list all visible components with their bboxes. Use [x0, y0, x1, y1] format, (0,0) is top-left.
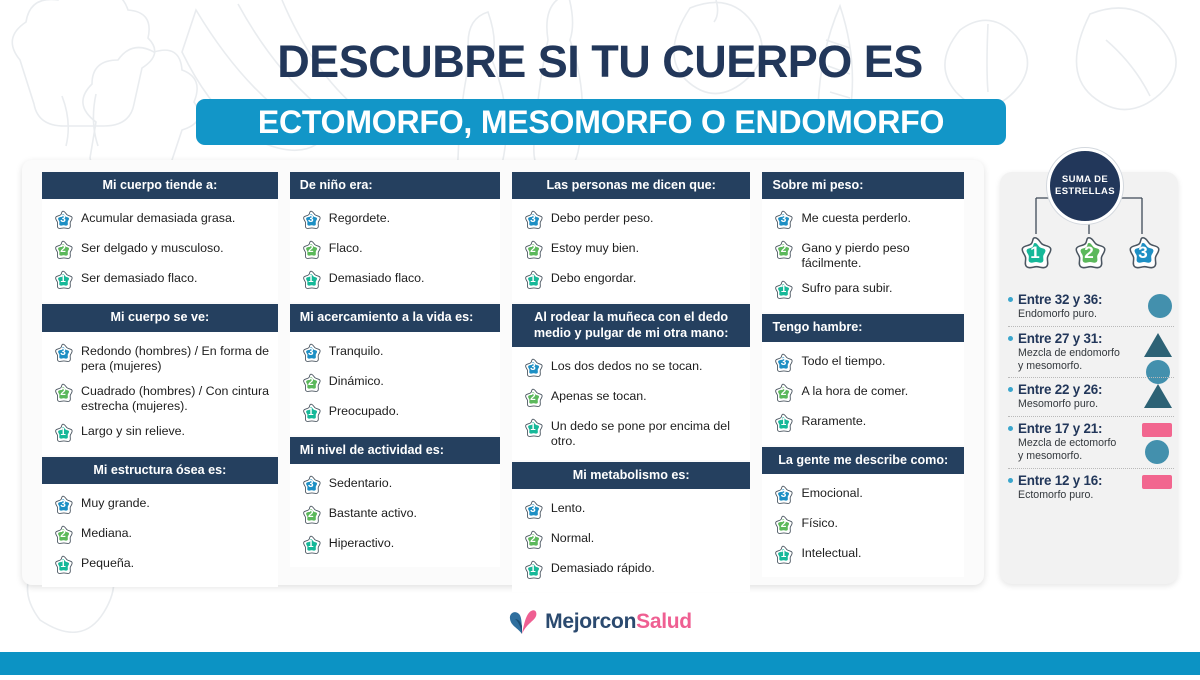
star-number: 1 [522, 269, 544, 291]
star-badge-1: 1 [52, 422, 74, 444]
answer-options: 3Redondo (hombres) / En forma de pera (m… [42, 332, 278, 455]
answer-option[interactable]: 2Gano y pierdo peso fácilmente. [772, 239, 956, 271]
question-block: Tengo hambre:3Todo el tiempo.2A la hora … [762, 314, 964, 444]
answer-options: 3Debo perder peso.2Estoy muy bien.1Debo … [512, 199, 751, 302]
answer-option[interactable]: 1Pequeña. [52, 554, 270, 576]
quiz-column-3: Las personas me dicen que:3Debo perder p… [506, 172, 757, 573]
answer-label: Lento. [551, 499, 585, 516]
answer-option[interactable]: 1Demasiado flaco. [300, 269, 492, 291]
star-number: 1 [300, 269, 322, 291]
star-number: 1 [300, 402, 322, 424]
star-number: 1 [1016, 234, 1054, 272]
butterfly-logo-icon [508, 608, 538, 636]
star-badge-3: 3 [772, 209, 794, 231]
answer-option[interactable]: 1Demasiado rápido. [522, 559, 743, 581]
answer-label: Bastante activo. [329, 504, 417, 521]
answer-label: Los dos dedos no se tocan. [551, 357, 703, 374]
question-header: Al rodear la muñeca con el dedo medio y … [512, 304, 751, 347]
answer-label: Apenas se tocan. [551, 387, 647, 404]
score-range-label: Entre 17 y 21: [1018, 421, 1102, 436]
answer-label: Mediana. [81, 524, 132, 541]
score-description: Endomorfo puro. [1008, 308, 1120, 321]
star-number: 3 [772, 352, 794, 374]
answer-label: Intelectual. [801, 544, 861, 561]
answer-option[interactable]: 1Raramente. [772, 412, 956, 434]
question-header: Mi nivel de actividad es: [290, 437, 500, 464]
question-header: Tengo hambre: [762, 314, 964, 341]
rect-shape-icon [1142, 475, 1172, 489]
star-badge-2: 2 [300, 239, 322, 261]
star-number: 2 [52, 382, 74, 404]
answer-label: Debo perder peso. [551, 209, 654, 226]
body-type-shapes [1144, 384, 1172, 408]
star-badge-1: 1 [772, 412, 794, 434]
score-results-list: Entre 32 y 36:Endomorfo puro.Entre 27 y … [1008, 288, 1174, 506]
logo-wordmark: MejorconSalud [545, 610, 692, 634]
star-badge-2: 2 [772, 382, 794, 404]
answer-option[interactable]: 1Hiperactivo. [300, 534, 492, 556]
question-header: Mi estructura ósea es: [42, 457, 278, 484]
star-number: 2 [522, 387, 544, 409]
star-badge-1: 1 [300, 402, 322, 424]
answer-label: Largo y sin relieve. [81, 422, 185, 439]
answer-label: Normal. [551, 529, 594, 546]
body-type-shapes [1142, 423, 1172, 464]
question-block: Las personas me dicen que:3Debo perder p… [512, 172, 751, 302]
question-block: Sobre mi peso:3Me cuesta perderlo.2Gano … [762, 172, 964, 312]
answer-label: Debo engordar. [551, 269, 636, 286]
triangle-shape-icon [1144, 333, 1172, 357]
star-badge-1: 1 [52, 269, 74, 291]
bullet-icon [1008, 478, 1013, 483]
star-number: 1 [52, 554, 74, 576]
star-badge-2: 2 [522, 239, 544, 261]
score-description: Mesomorfo puro. [1008, 398, 1120, 411]
suma-line-2: ESTRELLAS [1055, 186, 1115, 198]
answer-option[interactable]: 2Normal. [522, 529, 743, 551]
star-badge-2: 2 [300, 372, 322, 394]
score-range-label: Entre 32 y 36: [1018, 292, 1102, 307]
logo-text-primary: Mejorcon [545, 610, 636, 633]
answer-label: Tranquilo. [329, 342, 384, 359]
star-number: 3 [52, 494, 74, 516]
answer-label: Físico. [801, 514, 838, 531]
answer-option[interactable]: 1Debo engordar. [522, 269, 743, 291]
question-block: Mi nivel de actividad es:3Sedentario.2Ba… [290, 437, 500, 567]
quiz-column-1: Mi cuerpo tiende a:3Acumular demasiada g… [36, 172, 284, 573]
answer-option[interactable]: 3Regordete. [300, 209, 492, 231]
answer-label: Demasiado flaco. [329, 269, 425, 286]
body-type-shapes [1148, 294, 1172, 318]
answer-option[interactable]: 3Debo perder peso. [522, 209, 743, 231]
question-header: Mi cuerpo se ve: [42, 304, 278, 331]
star-badge-3: 3 [1124, 234, 1162, 272]
answer-label: Pequeña. [81, 554, 134, 571]
star-number: 1 [300, 534, 322, 556]
answer-options: 3Tranquilo.2Dinámico.1Preocupado. [290, 332, 500, 435]
answer-label: Cuadrado (hombres) / Con cintura estrech… [81, 382, 270, 414]
answer-option[interactable]: 2Cuadrado (hombres) / Con cintura estrec… [52, 382, 270, 414]
answer-option[interactable]: 2Estoy muy bien. [522, 239, 743, 261]
star-badge-1: 1 [522, 417, 544, 439]
answer-option[interactable]: 1Ser demasiado flaco. [52, 269, 270, 291]
question-block: Mi cuerpo se ve:3Redondo (hombres) / En … [42, 304, 278, 454]
star-badge-3: 3 [522, 209, 544, 231]
star-number: 1 [522, 559, 544, 581]
question-block: Mi metabolismo es:3Lento.2Normal.1Demasi… [512, 462, 751, 592]
answer-label: Raramente. [801, 412, 866, 429]
infographic-header: DESCUBRE SI TU CUERPO ES ECTOMORFO, MESO… [0, 0, 1200, 150]
answer-label: Me cuesta perderlo. [801, 209, 911, 226]
bullet-icon [1008, 336, 1013, 341]
score-result-row: Entre 27 y 31:Mezcla de endomorfo y meso… [1008, 326, 1174, 377]
answer-option[interactable]: 3Muy grande. [52, 494, 270, 516]
star-number: 3 [522, 499, 544, 521]
answer-label: Demasiado rápido. [551, 559, 655, 576]
star-badge-3: 3 [522, 357, 544, 379]
answer-option[interactable]: 1Un dedo se pone por encima del otro. [522, 417, 743, 449]
quiz-columns: Mi cuerpo tiende a:3Acumular demasiada g… [22, 160, 984, 585]
answer-option[interactable]: 3Tranquilo. [300, 342, 492, 364]
rect-shape-icon [1142, 423, 1172, 437]
star-badge-1: 1 [1016, 234, 1054, 272]
answer-label: Flaco. [329, 239, 363, 256]
star-number: 2 [1070, 234, 1108, 272]
suma-line-1: SUMA DE [1062, 174, 1108, 186]
question-header: La gente me describe como: [762, 447, 964, 474]
answer-option[interactable]: 2Apenas se tocan. [522, 387, 743, 409]
subtitle-banner: ECTOMORFO, MESOMORFO O ENDOMORFO [196, 99, 1006, 145]
question-block: La gente me describe como:3Emocional.2Fí… [762, 447, 964, 577]
star-badge-2: 2 [300, 504, 322, 526]
answer-label: Sedentario. [329, 474, 392, 491]
star-number: 2 [772, 514, 794, 536]
star-number: 3 [1124, 234, 1162, 272]
star-badge-2: 2 [52, 239, 74, 261]
answer-option[interactable]: 1Largo y sin relieve. [52, 422, 270, 444]
answer-option[interactable]: 2A la hora de comer. [772, 382, 956, 404]
star-badge-2: 2 [522, 529, 544, 551]
bullet-icon [1008, 297, 1013, 302]
star-number: 2 [300, 239, 322, 261]
body-type-shapes [1144, 333, 1172, 384]
answer-options: 3Me cuesta perderlo.2Gano y pierdo peso … [762, 199, 964, 312]
answer-options: 3Todo el tiempo.2A la hora de comer.1Rar… [762, 342, 964, 445]
answer-option[interactable]: 3Los dos dedos no se tocan. [522, 357, 743, 379]
answer-label: Ser demasiado flaco. [81, 269, 197, 286]
star-badge-3: 3 [300, 342, 322, 364]
answer-option[interactable]: 3Me cuesta perderlo. [772, 209, 956, 231]
body-type-shapes [1142, 475, 1172, 489]
star-number: 3 [52, 209, 74, 231]
star-badge-3: 3 [772, 352, 794, 374]
question-header: Las personas me dicen que: [512, 172, 751, 199]
star-badge-3: 3 [772, 484, 794, 506]
answer-options: 3Muy grande.2Mediana.1Pequeña. [42, 484, 278, 587]
star-number: 3 [772, 209, 794, 231]
answer-label: Todo el tiempo. [801, 352, 885, 369]
score-result-row: Entre 22 y 26:Mesomorfo puro. [1008, 377, 1174, 416]
score-range-label: Entre 22 y 26: [1018, 382, 1102, 397]
answer-option[interactable]: 2Físico. [772, 514, 956, 536]
star-badge-1: 1 [522, 269, 544, 291]
star-number: 3 [300, 342, 322, 364]
answer-option[interactable]: 2Mediana. [52, 524, 270, 546]
question-block: De niño era:3Regordete.2Flaco.1Demasiado… [290, 172, 500, 302]
star-badge-1: 1 [772, 544, 794, 566]
quiz-column-4: Sobre mi peso:3Me cuesta perderlo.2Gano … [756, 172, 970, 573]
answer-label: Muy grande. [81, 494, 150, 511]
star-badge-3: 3 [300, 474, 322, 496]
star-number: 2 [522, 529, 544, 551]
answer-options: 3Sedentario.2Bastante activo.1Hiperactiv… [290, 464, 500, 567]
bullet-icon [1008, 387, 1013, 392]
score-result-row: Entre 32 y 36:Endomorfo puro. [1008, 288, 1174, 326]
suma-de-estrellas-badge: SUMA DE ESTRELLAS [1047, 148, 1123, 224]
answer-options: 3Lento.2Normal.1Demasiado rápido. [512, 489, 751, 592]
answer-label: Gano y pierdo peso fácilmente. [801, 239, 956, 271]
star-badge-3: 3 [52, 494, 74, 516]
star-badge-3: 3 [522, 499, 544, 521]
star-number: 1 [522, 417, 544, 439]
answer-options: 3Regordete.2Flaco.1Demasiado flaco. [290, 199, 500, 302]
answer-label: Emocional. [801, 484, 862, 501]
legend-star-row: 123 [1008, 232, 1170, 274]
star-badge-2: 2 [52, 524, 74, 546]
question-block: Mi acercamiento a la vida es:3Tranquilo.… [290, 304, 500, 434]
star-number: 2 [300, 504, 322, 526]
star-number: 3 [300, 209, 322, 231]
star-badge-3: 3 [52, 342, 74, 364]
answer-option[interactable]: 2Dinámico. [300, 372, 492, 394]
star-badge-2: 2 [772, 239, 794, 261]
answer-label: Dinámico. [329, 372, 384, 389]
star-badge-2: 2 [52, 382, 74, 404]
star-badge-1: 1 [772, 279, 794, 301]
star-number: 3 [522, 209, 544, 231]
answer-option[interactable]: 3Lento. [522, 499, 743, 521]
star-number: 2 [300, 372, 322, 394]
answer-label: Ser delgado y musculoso. [81, 239, 224, 256]
question-header: Mi acercamiento a la vida es: [290, 304, 500, 331]
star-number: 3 [300, 474, 322, 496]
star-badge-2: 2 [772, 514, 794, 536]
question-header: Mi cuerpo tiende a: [42, 172, 278, 199]
answer-label: Sufro para subir. [801, 279, 892, 296]
score-description: Ectomorfo puro. [1008, 489, 1120, 502]
bottom-accent-bar [0, 652, 1200, 675]
answer-option[interactable]: 3Emocional. [772, 484, 956, 506]
answer-options: 3Emocional.2Físico.1Intelectual. [762, 474, 964, 577]
answer-option[interactable]: 2Ser delgado y musculoso. [52, 239, 270, 261]
score-description: Mezcla de endomorfo y mesomorfo. [1008, 347, 1120, 372]
star-number: 1 [772, 412, 794, 434]
star-number: 3 [52, 342, 74, 364]
answer-option[interactable]: 3Sedentario. [300, 474, 492, 496]
question-header: Sobre mi peso: [762, 172, 964, 199]
star-number: 1 [772, 544, 794, 566]
question-block: Al rodear la muñeca con el dedo medio y … [512, 304, 751, 460]
circle-shape-icon [1148, 294, 1172, 318]
answer-label: Un dedo se pone por encima del otro. [551, 417, 743, 449]
answer-option[interactable]: 2Bastante activo. [300, 504, 492, 526]
score-range-label: Entre 27 y 31: [1018, 331, 1102, 346]
star-badge-1: 1 [300, 269, 322, 291]
star-badge-1: 1 [522, 559, 544, 581]
star-number: 2 [52, 524, 74, 546]
star-number: 2 [52, 239, 74, 261]
star-badge-1: 1 [52, 554, 74, 576]
site-logo[interactable]: MejorconSalud [0, 608, 1200, 636]
question-header: De niño era: [290, 172, 500, 199]
circle-shape-icon [1145, 440, 1169, 464]
answer-label: Redondo (hombres) / En forma de pera (mu… [81, 342, 270, 374]
score-result-row: Entre 17 y 21:Mezcla de ectomorfo y meso… [1008, 416, 1174, 467]
star-badge-2: 2 [522, 387, 544, 409]
answer-label: A la hora de comer. [801, 382, 908, 399]
score-result-row: Entre 12 y 16:Ectomorfo puro. [1008, 468, 1174, 507]
star-number: 3 [522, 357, 544, 379]
score-description: Mezcla de ectomorfo y mesomorfo. [1008, 437, 1120, 462]
question-header: Mi metabolismo es: [512, 462, 751, 489]
star-badge-3: 3 [52, 209, 74, 231]
page-title: DESCUBRE SI TU CUERPO ES [0, 36, 1200, 88]
answer-options: 3Los dos dedos no se tocan.2Apenas se to… [512, 347, 751, 460]
star-number: 1 [52, 422, 74, 444]
answer-label: Hiperactivo. [329, 534, 394, 551]
star-number: 2 [772, 239, 794, 261]
star-badge-1: 1 [300, 534, 322, 556]
quiz-column-2: De niño era:3Regordete.2Flaco.1Demasiado… [284, 172, 506, 573]
star-badge-2: 2 [1070, 234, 1108, 272]
answer-label: Preocupado. [329, 402, 399, 419]
question-block: Mi cuerpo tiende a:3Acumular demasiada g… [42, 172, 278, 302]
answer-option[interactable]: 2Flaco. [300, 239, 492, 261]
answer-option[interactable]: 1Preocupado. [300, 402, 492, 424]
star-number: 2 [522, 239, 544, 261]
logo-text-secondary: Salud [636, 610, 692, 633]
answer-option[interactable]: 1Intelectual. [772, 544, 956, 566]
answer-option[interactable]: 3Redondo (hombres) / En forma de pera (m… [52, 342, 270, 374]
triangle-shape-icon [1144, 384, 1172, 408]
star-number: 1 [772, 279, 794, 301]
star-badge-3: 3 [300, 209, 322, 231]
answer-label: Regordete. [329, 209, 390, 226]
bullet-icon [1008, 426, 1013, 431]
star-number: 1 [52, 269, 74, 291]
question-block: Mi estructura ósea es:3Muy grande.2Media… [42, 457, 278, 587]
subtitle-text: ECTOMORFO, MESOMORFO O ENDOMORFO [258, 104, 944, 141]
answer-options: 3Acumular demasiada grasa.2Ser delgado y… [42, 199, 278, 302]
answer-option[interactable]: 1Sufro para subir. [772, 279, 956, 301]
answer-option[interactable]: 3Todo el tiempo. [772, 352, 956, 374]
score-range-label: Entre 12 y 16: [1018, 473, 1102, 488]
star-number: 3 [772, 484, 794, 506]
answer-option[interactable]: 3Acumular demasiada grasa. [52, 209, 270, 231]
star-number: 2 [772, 382, 794, 404]
answer-label: Acumular demasiada grasa. [81, 209, 235, 226]
answer-label: Estoy muy bien. [551, 239, 639, 256]
